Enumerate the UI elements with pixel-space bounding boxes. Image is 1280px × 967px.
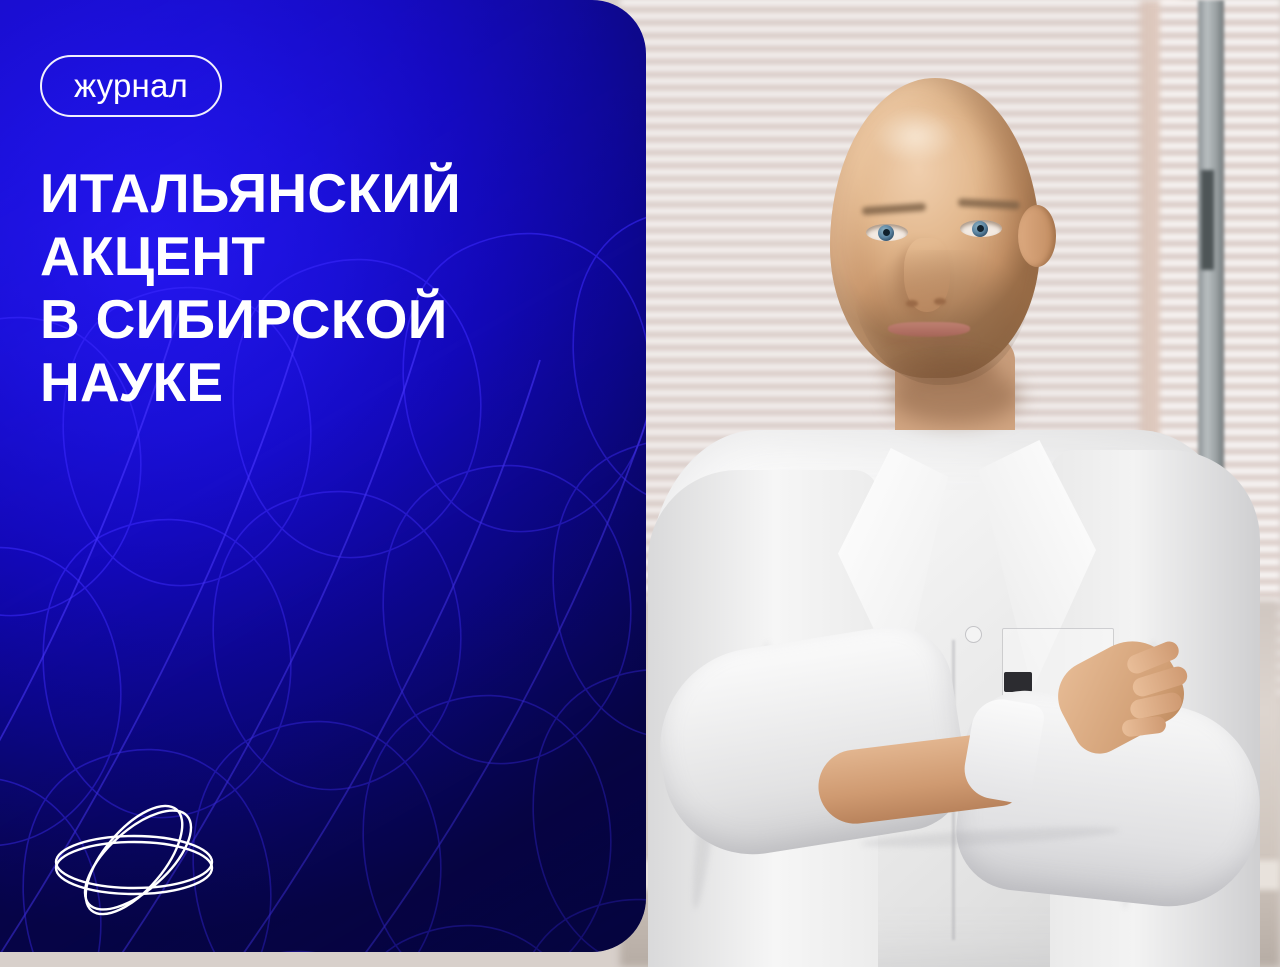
journal-badge[interactable]: журнал (40, 55, 222, 117)
headline-line-2: АКЦЕНТ (40, 225, 560, 288)
headline-line-4: НАУКЕ (40, 351, 560, 414)
lab-coat-button (965, 626, 982, 643)
atom-orbits-logo (34, 790, 234, 930)
nostril (906, 300, 918, 307)
lip-shadow (884, 336, 976, 346)
eye-right (960, 220, 1002, 237)
headline-line-3: В СИБИРСКОЙ (40, 288, 560, 351)
mouth (888, 322, 970, 337)
blue-content-panel: журнал ИТАЛЬЯНСКИЙ АКЦЕНТ В СИБИРСКОЙ НА… (0, 0, 646, 952)
journal-badge-label: журнал (74, 67, 188, 105)
eye-left (866, 224, 908, 241)
lab-coat-badge (1004, 672, 1032, 692)
neck-shadow (890, 368, 1020, 424)
poster-card: журнал ИТАЛЬЯНСКИЙ АКЦЕНТ В СИБИРСКОЙ НА… (0, 0, 1280, 967)
headline-line-1: ИТАЛЬЯНСКИЙ (40, 162, 560, 225)
nostril (934, 298, 946, 305)
page-title: ИТАЛЬЯНСКИЙ АКЦЕНТ В СИБИРСКОЙ НАУКЕ (40, 162, 560, 414)
head-highlight (872, 108, 958, 164)
